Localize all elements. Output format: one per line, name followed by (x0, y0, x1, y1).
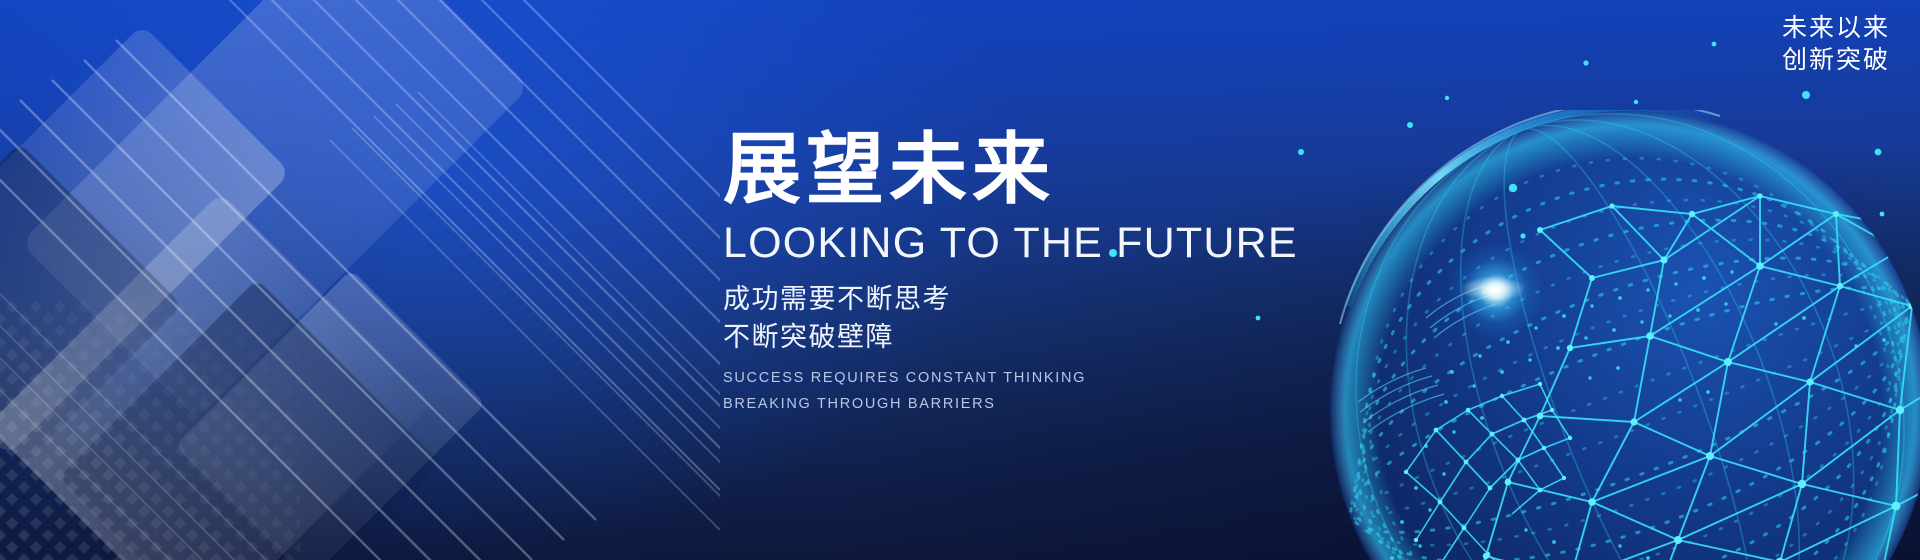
subheading-english-line-2: BREAKING THROUGH BARRIERS (723, 392, 1363, 417)
subheading-chinese-line-2: 不断突破壁障 (723, 318, 1363, 356)
subheading-chinese-line-1: 成功需要不断思考 (723, 280, 1363, 318)
corner-slogan-line-2: 创新突破 (1782, 44, 1890, 76)
corner-slogan-line-1: 未来以来 (1782, 12, 1890, 44)
subheading-english: SUCCESS REQUIRES CONSTANT THINKING BREAK… (723, 366, 1363, 417)
corner-slogan: 未来以来 创新突破 (1782, 12, 1890, 76)
banner: 展望未来 LOOKING TO THE FUTURE 成功需要不断思考 不断突破… (0, 0, 1920, 560)
headline-english: LOOKING TO THE FUTURE (723, 219, 1363, 268)
headline-block: 展望未来 LOOKING TO THE FUTURE 成功需要不断思考 不断突破… (723, 128, 1363, 417)
subheading-chinese: 成功需要不断思考 不断突破壁障 (723, 280, 1363, 357)
headline-chinese: 展望未来 (723, 128, 1363, 211)
subheading-english-line-1: SUCCESS REQUIRES CONSTANT THINKING (723, 366, 1363, 391)
